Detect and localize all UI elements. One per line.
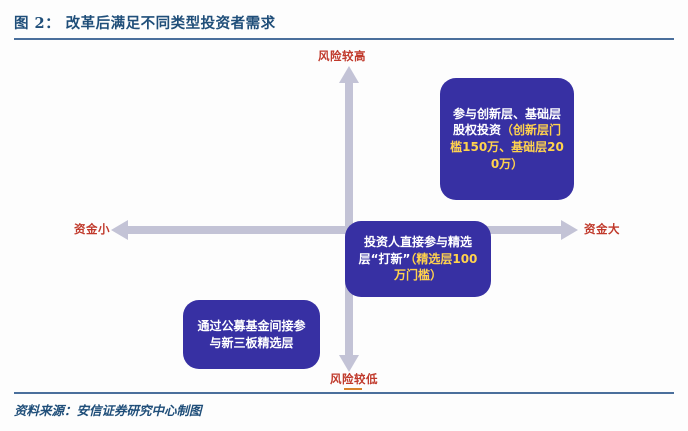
axis-label-high-risk: 风险较高 [318,48,366,64]
figure-container: 图 2： 改革后满足不同类型投资者需求 风险较高 风险较低 资金小 资金大 参与… [0,0,688,431]
quadrant-text-primary: 通过公募基金间接参与新三板精选层 [197,319,305,350]
quadrant-box-text: 通过公募基金间接参与新三板精选层 [193,318,310,351]
source-note: 资料来源：安信证券研究中心制图 [14,400,202,419]
quadrant-box-low-risk-small-capital: 通过公募基金间接参与新三板精选层 [183,300,320,369]
figure-title: 图 2： 改革后满足不同类型投资者需求 [14,12,276,33]
quadrant-box-text: 投资人直接参与精选层“打新”（精选层100万门槛） [355,234,481,284]
arrow-up-icon [339,66,359,83]
title-divider [14,38,674,40]
axis-label-low-risk: 风险较低 [330,371,378,387]
quadrant-box-center: 投资人直接参与精选层“打新”（精选层100万门槛） [345,221,491,297]
arrow-right-icon [561,220,578,240]
footer-divider [14,392,674,394]
footer-tick-mark [344,388,362,390]
quadrant-box-high-risk-large-capital: 参与创新层、基础层股权投资（创新层门槛150万、基础层200万） [440,78,574,200]
vertical-axis-shaft [345,82,353,356]
axis-label-small-capital: 资金小 [74,221,110,237]
arrow-down-icon [339,355,359,372]
arrow-left-icon [111,220,128,240]
quadrant-box-text: 参与创新层、基础层股权投资（创新层门槛150万、基础层200万） [450,106,564,172]
axis-label-large-capital: 资金大 [584,221,620,237]
